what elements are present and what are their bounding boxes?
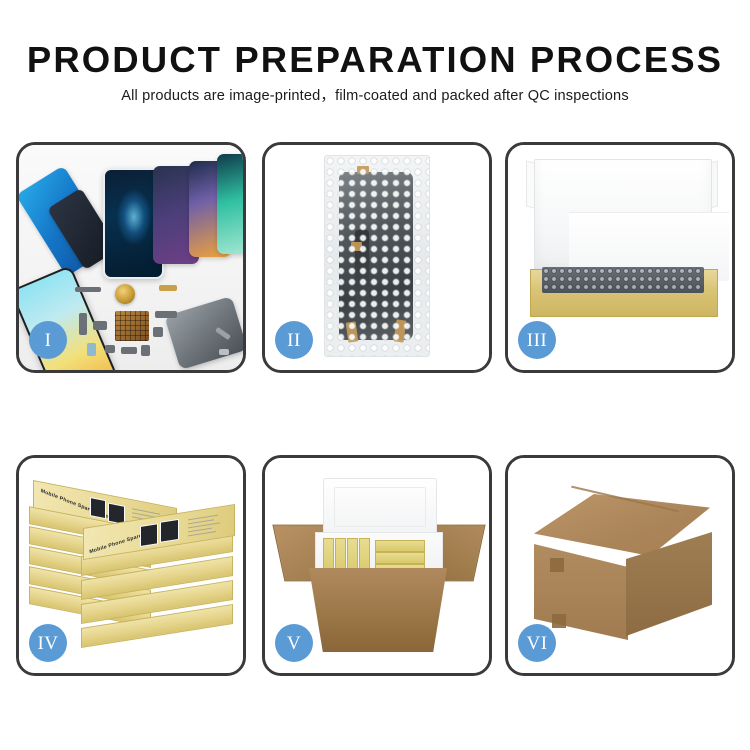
page-subtitle: All products are image-printed，film-coat… (0, 89, 750, 104)
carton-body-shape (309, 568, 447, 652)
phone-teal-shape (217, 154, 243, 254)
step-panel-2: II (262, 142, 492, 373)
step-badge-5: V (275, 624, 313, 662)
step-badge-3: III (518, 321, 556, 359)
bubble-filled-contents (542, 267, 704, 293)
step-panel-6: VI (505, 455, 735, 676)
foam-lid-shape (323, 478, 437, 538)
page-title: PRODUCT PREPARATION PROCESS (0, 42, 750, 79)
bubble-bag-shape (324, 155, 430, 357)
step-badge-6: VI (518, 624, 556, 662)
logic-board-shape (115, 311, 149, 341)
white-box-lid-shape (534, 159, 712, 277)
step-panel-4: Mobile Phone Spare Parts Mobile Phone S (16, 455, 246, 676)
infographic-page: PRODUCT PREPARATION PROCESS All products… (0, 0, 750, 750)
carton-tape-patch-bottom (552, 614, 566, 628)
step-badge-4: IV (29, 624, 67, 662)
step-badge-1: I (29, 321, 67, 359)
wireless-coil-icon (115, 284, 135, 304)
carton-tape-patch-top (550, 558, 564, 572)
step-panel-1: I (16, 142, 246, 373)
step-panel-3: III (505, 142, 735, 373)
step-panel-5: V (262, 455, 492, 676)
step-badge-2: II (275, 321, 313, 359)
